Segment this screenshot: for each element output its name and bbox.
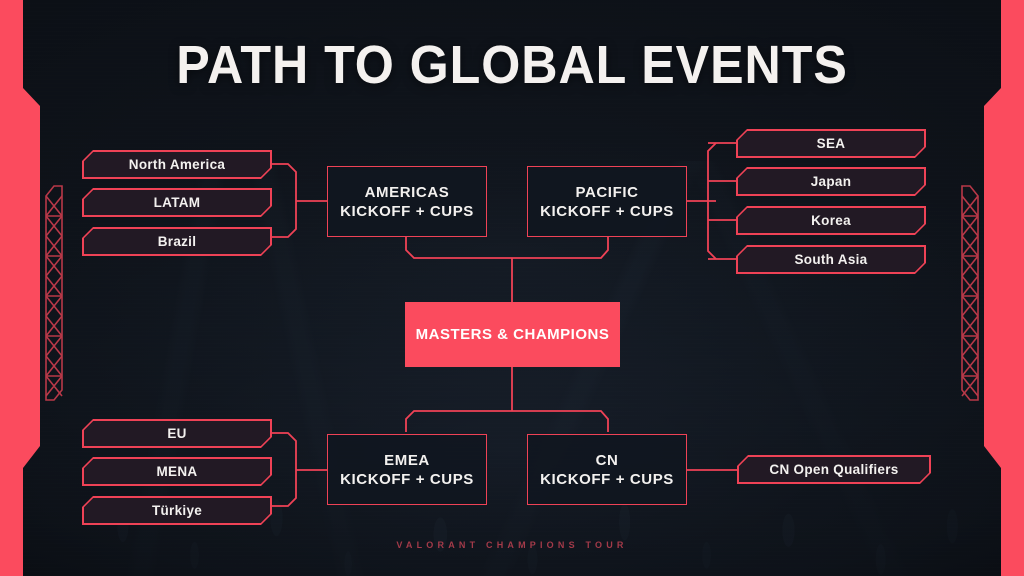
region-label: LATAM — [82, 188, 272, 217]
region-box-japan[interactable]: Japan — [736, 167, 926, 196]
region-label: MENA — [82, 457, 272, 486]
league-box-emea[interactable]: EMEA KICKOFF + CUPS — [327, 434, 487, 505]
region-box-korea[interactable]: Korea — [736, 206, 926, 235]
region-box-mena[interactable]: MENA — [82, 457, 272, 486]
region-label: EU — [82, 419, 272, 448]
region-box-sea[interactable]: SEA — [736, 129, 926, 158]
region-box-eu[interactable]: EU — [82, 419, 272, 448]
region-box-north-america[interactable]: North America — [82, 150, 272, 179]
league-name: EMEA — [384, 452, 430, 469]
masters-champions-label: MASTERS & CHAMPIONS — [416, 326, 610, 343]
region-box-brazil[interactable]: Brazil — [82, 227, 272, 256]
league-name: PACIFIC — [575, 184, 638, 201]
region-label: North America — [82, 150, 272, 179]
region-label: Korea — [736, 206, 926, 235]
infographic-canvas: PATH TO GLOBAL EVENTS — [0, 0, 1024, 576]
league-stage: KICKOFF + CUPS — [540, 203, 674, 220]
region-label: South Asia — [736, 245, 926, 274]
region-label: CN Open Qualifiers — [737, 455, 931, 484]
region-label: Brazil — [82, 227, 272, 256]
region-box-cn-open-qualifiers[interactable]: CN Open Qualifiers — [737, 455, 931, 484]
region-box-turkiye[interactable]: Türkiye — [82, 496, 272, 525]
footer-brand: VALORANT CHAMPIONS TOUR — [0, 540, 1024, 550]
league-stage: KICKOFF + CUPS — [540, 471, 674, 488]
connector-lines — [0, 0, 1024, 576]
region-label: Japan — [736, 167, 926, 196]
league-box-cn[interactable]: CN KICKOFF + CUPS — [527, 434, 687, 505]
league-stage: KICKOFF + CUPS — [340, 203, 474, 220]
region-box-latam[interactable]: LATAM — [82, 188, 272, 217]
region-label: Türkiye — [82, 496, 272, 525]
masters-champions-box[interactable]: MASTERS & CHAMPIONS — [405, 302, 620, 367]
league-box-pacific[interactable]: PACIFIC KICKOFF + CUPS — [527, 166, 687, 237]
league-box-americas[interactable]: AMERICAS KICKOFF + CUPS — [327, 166, 487, 237]
league-name: CN — [596, 452, 619, 469]
region-box-south-asia[interactable]: South Asia — [736, 245, 926, 274]
league-stage: KICKOFF + CUPS — [340, 471, 474, 488]
region-label: SEA — [736, 129, 926, 158]
league-name: AMERICAS — [365, 184, 450, 201]
